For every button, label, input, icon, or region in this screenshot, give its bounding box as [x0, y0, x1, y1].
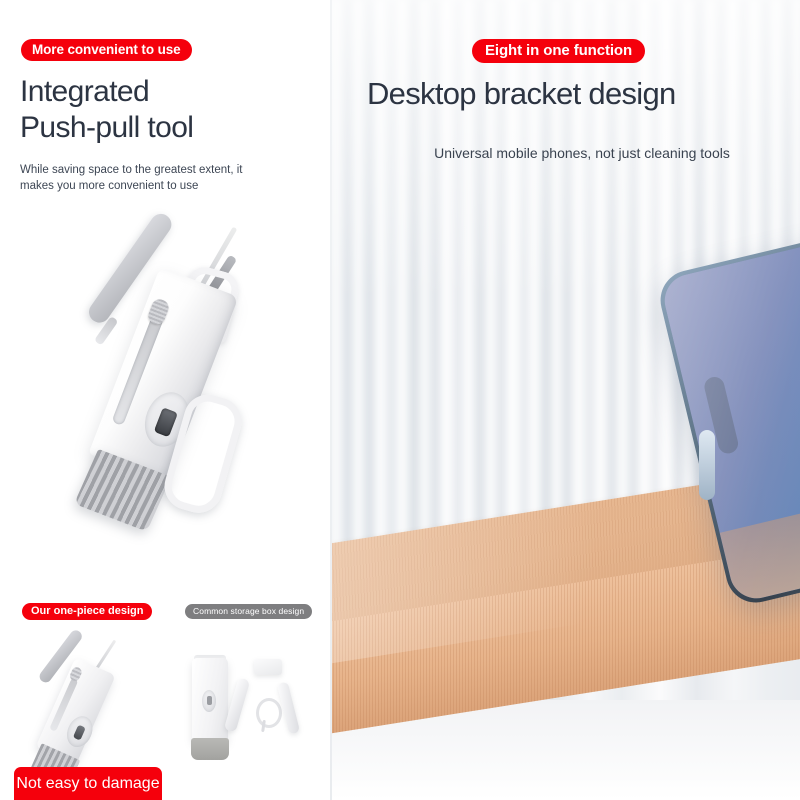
- common-loose-ring-icon: [256, 698, 282, 728]
- hero-tool-group: [0, 179, 331, 614]
- common-box-foot: [191, 738, 229, 760]
- left-badge: More convenient to use: [21, 39, 192, 61]
- left-subtitle: While saving space to the greatest exten…: [20, 163, 270, 194]
- ours-pill-label: Our one-piece design: [22, 603, 152, 620]
- left-headline-line2: Push-pull tool: [20, 110, 320, 146]
- product-marketing-image: More convenient to use Integrated Push-p…: [0, 0, 800, 800]
- right-panel: Eight in one function Desktop bracket de…: [331, 0, 800, 800]
- panel-divider: [330, 0, 332, 800]
- ours-tool-group: [1, 614, 164, 789]
- common-pill-label: Common storage box design: [185, 604, 312, 619]
- hero-product-image: [42, 212, 292, 582]
- common-product-image: [176, 630, 326, 775]
- right-badge: Eight in one function: [472, 39, 645, 63]
- left-headline: Integrated Push-pull tool: [20, 74, 320, 146]
- left-headline-line1: Integrated: [20, 75, 149, 108]
- comparison-common: Common storage box design Easily worn: [168, 592, 331, 800]
- comparison-ours: Our one-piece design Not easy to damage: [0, 592, 165, 800]
- ours-bottom-bar: Not easy to damage: [14, 767, 162, 800]
- common-loose-cap: [254, 659, 282, 675]
- phone-side-button: [699, 430, 715, 500]
- right-subtitle: Universal mobile phones, not just cleani…: [367, 144, 797, 163]
- left-panel: More convenient to use Integrated Push-p…: [0, 0, 331, 800]
- ours-product-image: [24, 632, 140, 772]
- common-box-port-icon: [207, 696, 212, 705]
- right-headline: Desktop bracket design: [367, 74, 800, 114]
